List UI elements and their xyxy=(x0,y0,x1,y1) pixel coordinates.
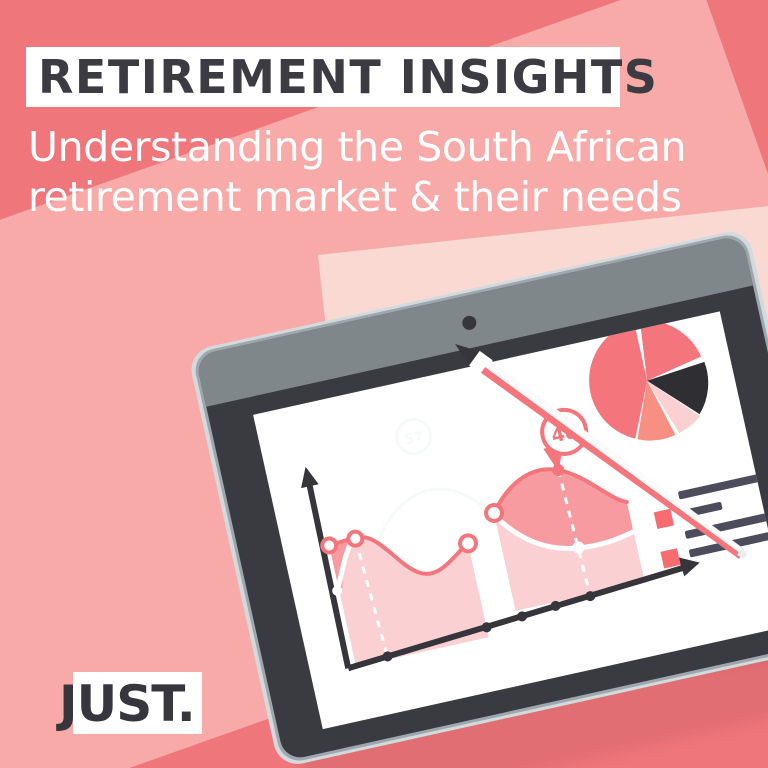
subtitle-line-2: retirement market & their needs xyxy=(28,172,708,222)
desk-illustration: 57 xyxy=(0,0,768,768)
subtitle-line-1: Understanding the South African xyxy=(28,122,708,172)
page-title: RETIREMENT INSIGHTS xyxy=(38,50,638,104)
svg-text:57: 57 xyxy=(403,429,425,449)
poster-root: 57 xyxy=(0,0,768,768)
legend-bar xyxy=(678,471,768,500)
legend-swatch xyxy=(660,548,680,568)
brand-logo: JUST. xyxy=(59,675,259,733)
page-subtitle: Understanding the South African retireme… xyxy=(28,122,708,222)
